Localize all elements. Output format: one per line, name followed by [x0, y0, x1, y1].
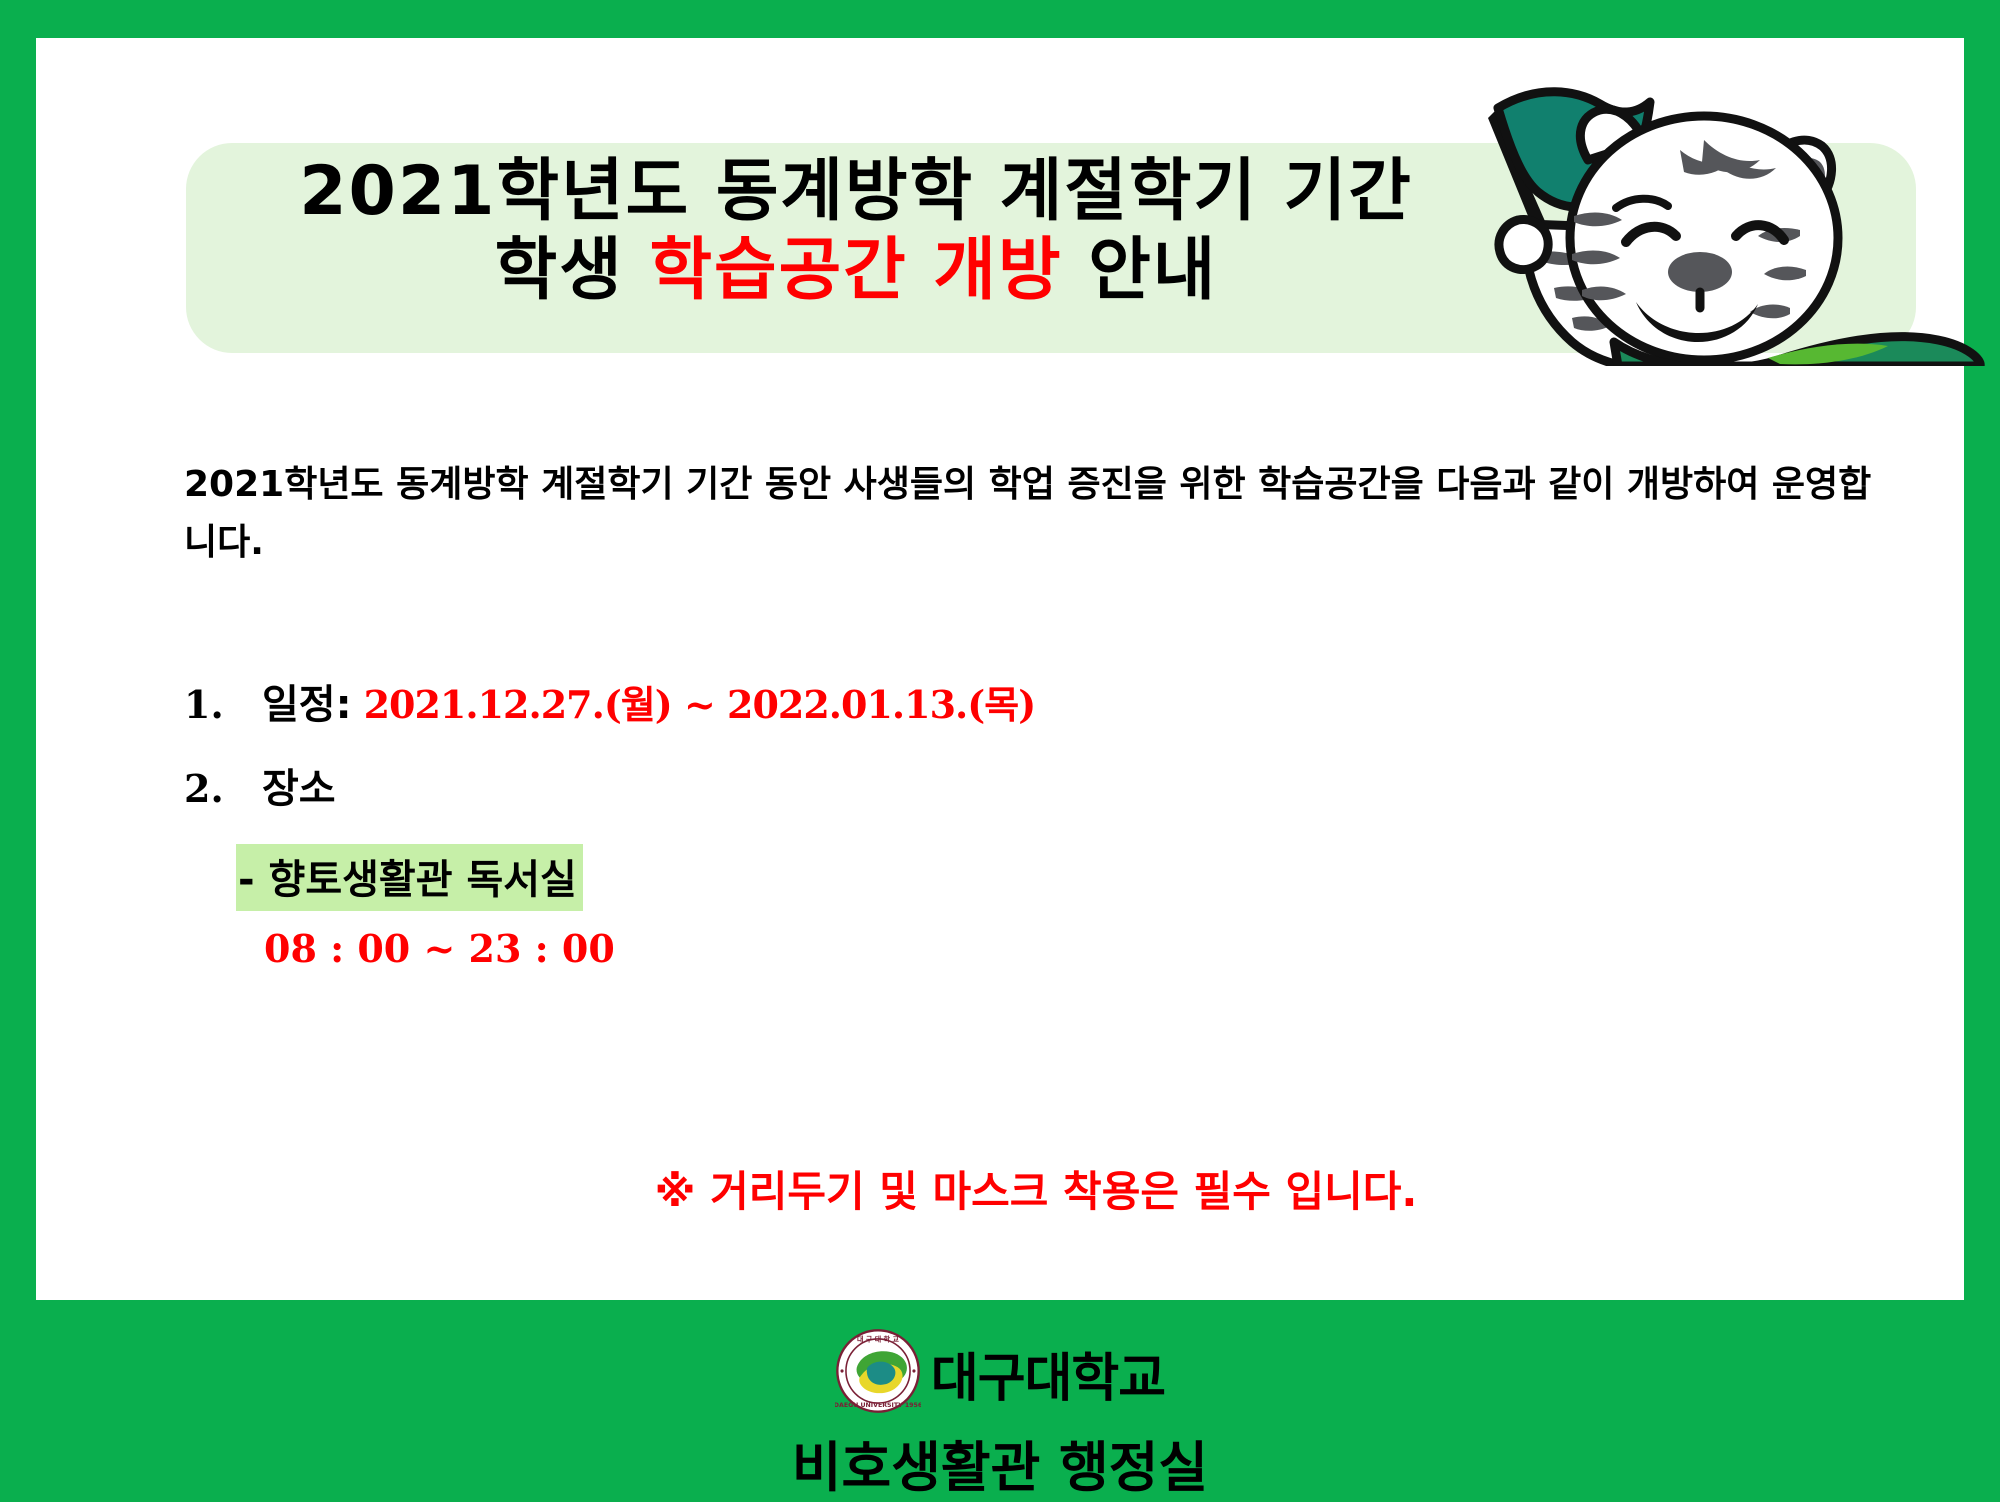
footer-office-name: 비호생활관 행정실 [792, 1423, 1208, 1502]
title-line-2-pre: 학생 [495, 231, 650, 310]
list-item: 2. 장소 [184, 756, 1684, 814]
safety-notice: ※ 거리두기 및 마스크 착용은 필수 입니다. [36, 1158, 2000, 1219]
title-line-2-highlight: 학습공간 개방 [649, 231, 1062, 310]
page-title: 2021학년도 동계방학 계절학기 기간 학생 학습공간 개방 안내 [186, 156, 1526, 308]
footer-university-row: 대 구 대 학 교 DAEGU UNIVERSITY 1956 대구대학교 [835, 1328, 1165, 1419]
title-line-1: 2021학년도 동계방학 계절학기 기간 [186, 156, 1526, 229]
list-item: 1. 일정: 2021.12.27.(월) ~ 2022.01.13.(목) [184, 672, 1684, 730]
poster-root: 2021학년도 동계방학 계절학기 기간 학생 학습공간 개방 안내 [0, 0, 2000, 1500]
footer: 대 구 대 학 교 DAEGU UNIVERSITY 1956 대구대학교 비호… [0, 1300, 2000, 1500]
seal-top-text: 대 구 대 학 교 [857, 1334, 900, 1343]
content-panel: 2021학년도 동계방학 계절학기 기간 학생 학습공간 개방 안내 [36, 38, 1964, 1300]
place-row: - 향토생활관 독서실 [236, 844, 583, 911]
list-item-number: 1. [184, 682, 262, 727]
intro-paragraph: 2021학년도 동계방학 계절학기 기간 동안 사생들의 학업 증진을 위한 학… [184, 456, 1884, 573]
title-line-2-post: 안내 [1063, 231, 1218, 310]
list-item-number: 2. [184, 766, 262, 811]
list-item-label: 장소 [262, 756, 336, 814]
seal-bottom-text: DAEGU UNIVERSITY 1956 [835, 1402, 921, 1409]
title-line-2: 학생 학습공간 개방 안내 [186, 235, 1526, 308]
place-hours: 08 : 00 ~ 23 : 00 [264, 926, 615, 971]
footer-university-name: 대구대학교 [931, 1336, 1165, 1411]
list-item-label: 일정: [262, 672, 352, 730]
list-item-value: 2021.12.27.(월) ~ 2022.01.13.(목) [364, 674, 1036, 729]
place-name-highlight: - 향토생활관 독서실 [236, 844, 583, 911]
info-list: 1. 일정: 2021.12.27.(월) ~ 2022.01.13.(목) 2… [184, 672, 1684, 840]
daegu-university-seal-icon: 대 구 대 학 교 DAEGU UNIVERSITY 1956 [835, 1328, 921, 1419]
